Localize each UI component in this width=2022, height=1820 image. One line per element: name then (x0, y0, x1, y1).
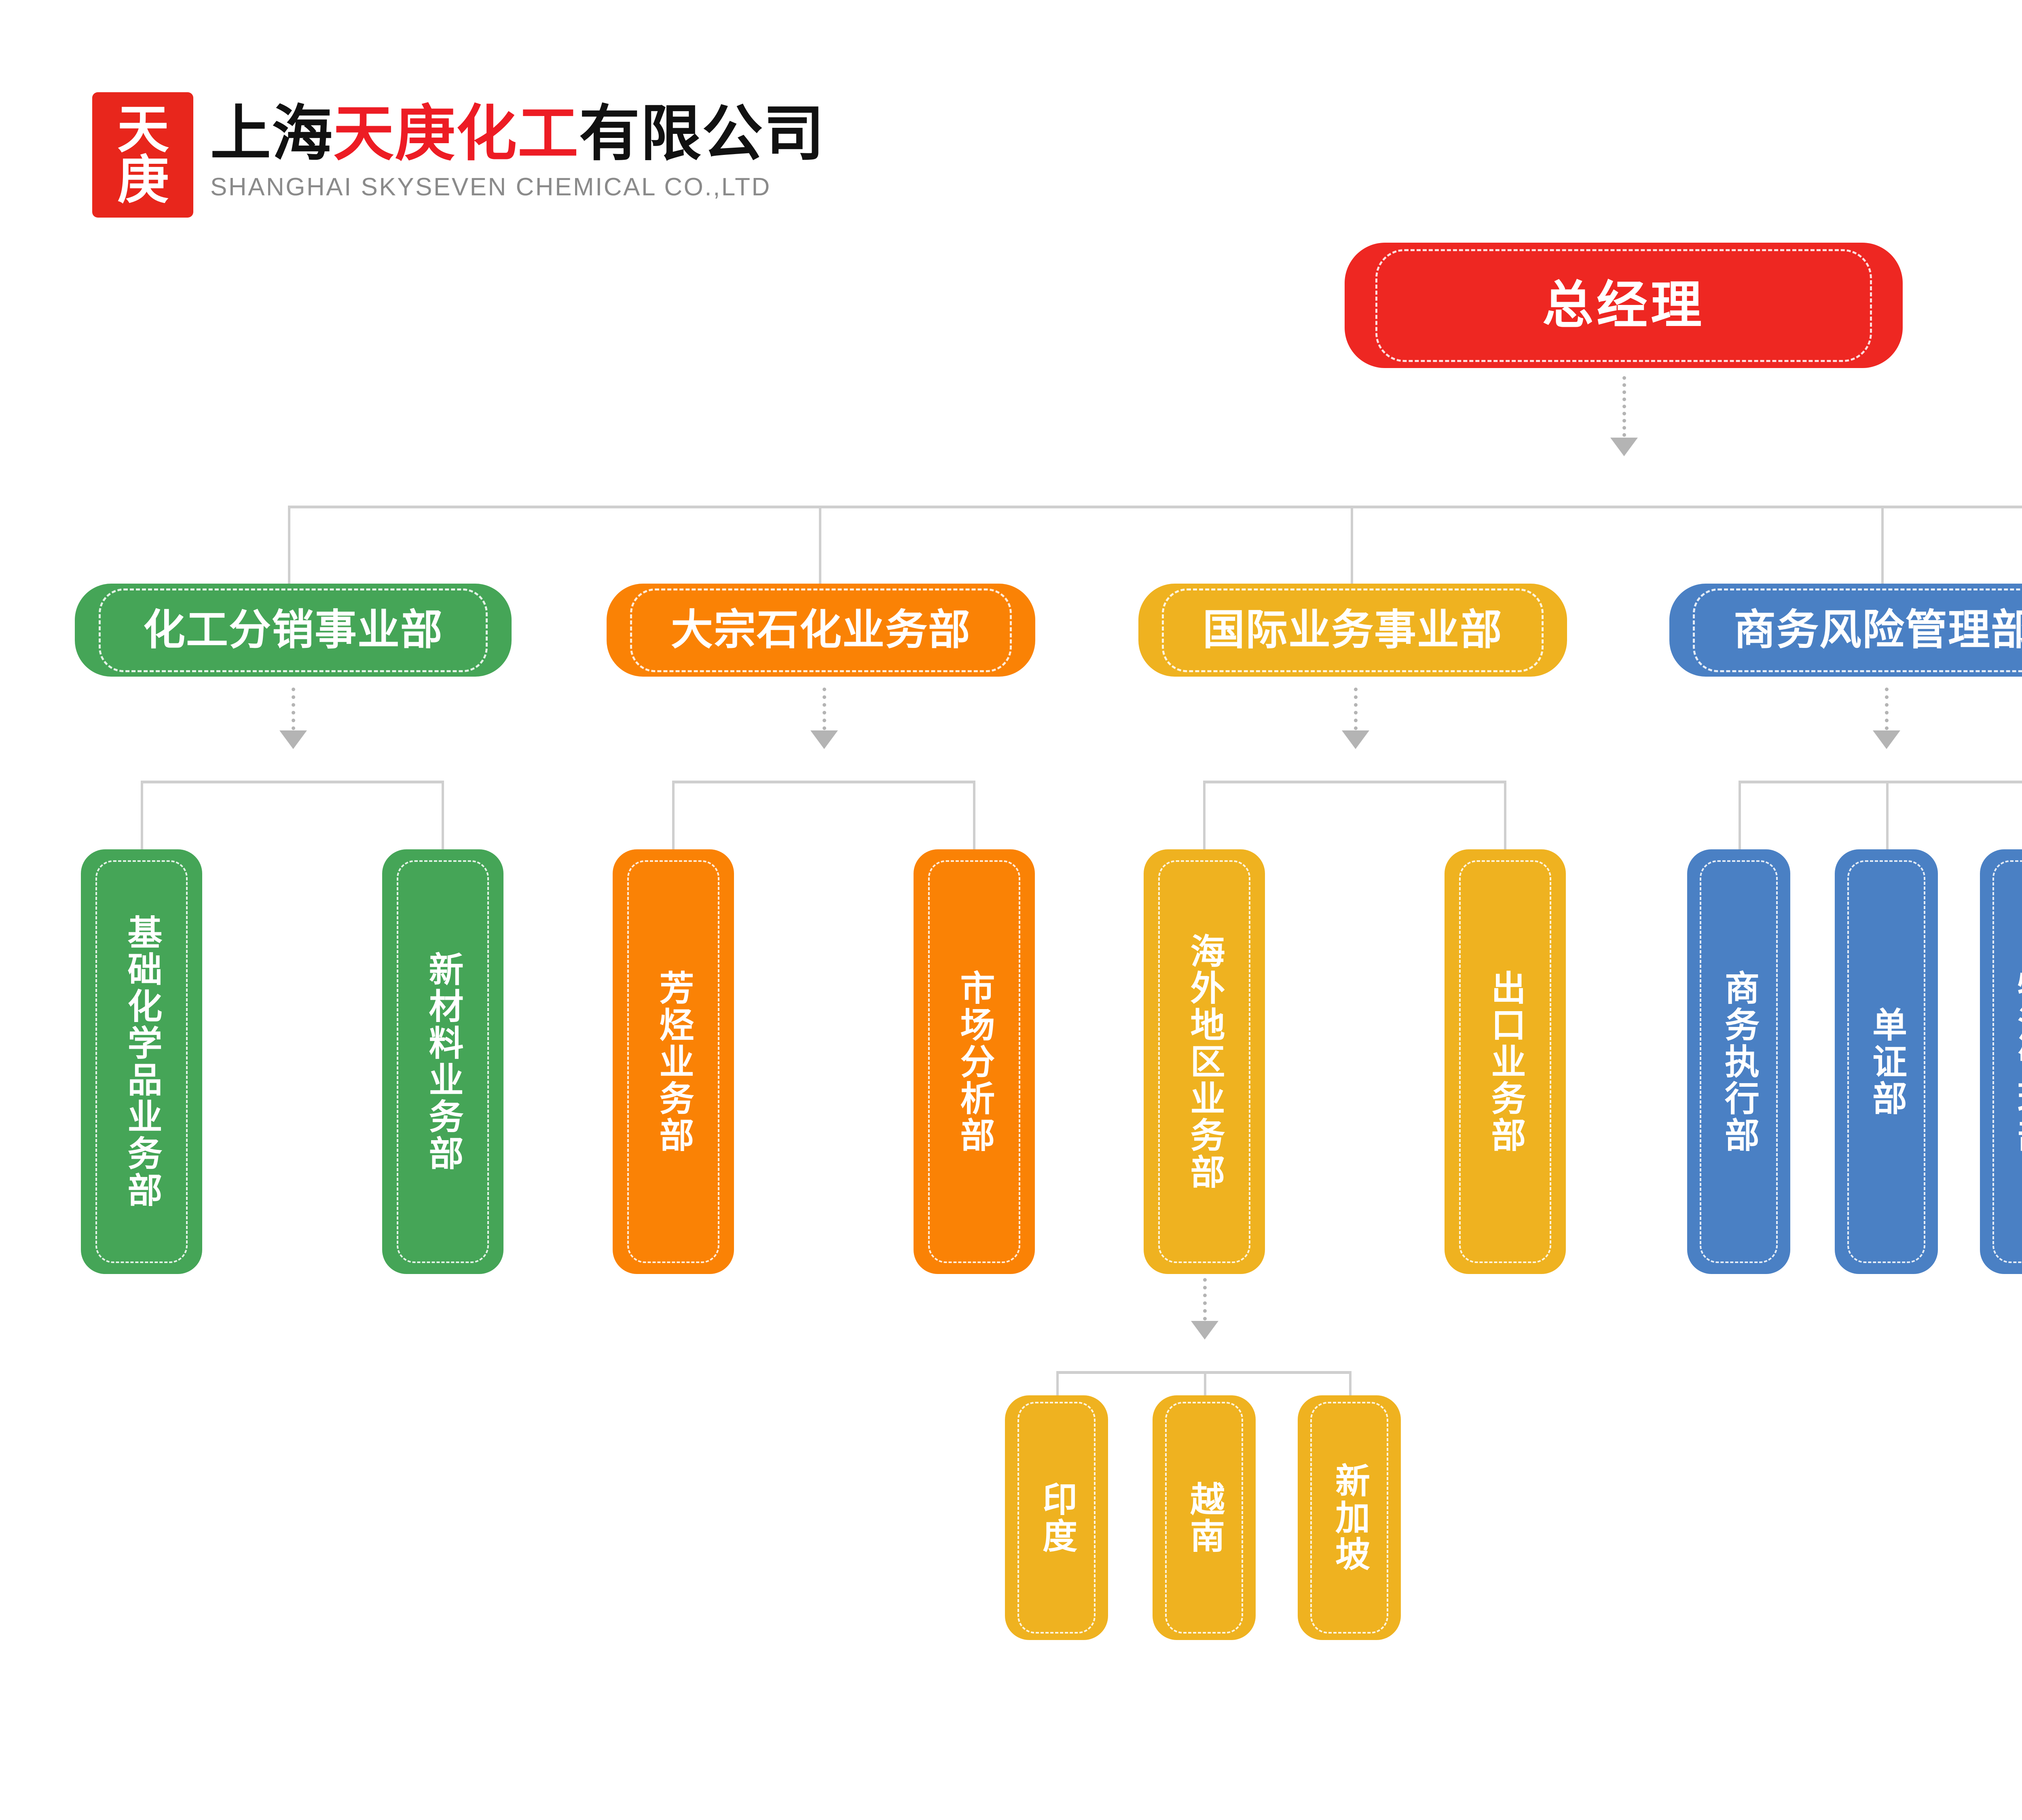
org-node-label: 总经理 (1542, 278, 1705, 332)
company-name-cn: 上海天庚化工有限公司 (210, 103, 825, 165)
connector-drop-dept-3-child-1 (1886, 781, 1889, 851)
company-name-en: SHANGHAI SKYSEVEN CHEMICAL CO.,LTD (210, 173, 825, 201)
org-node-label: 商务执行部 (1722, 970, 1756, 1154)
connector-bus-dept-2 (1203, 781, 1506, 783)
org-node-label: 化工分销事业部 (143, 608, 443, 652)
connector-stem-dept-0 (292, 688, 295, 730)
org-node-basic-chemicals-business-dept[interactable]: 基础化学品业务部 (81, 849, 202, 1274)
org-node-label: 国际业务事业部 (1203, 608, 1503, 652)
connector-arrow-overseas-icon (1191, 1321, 1218, 1340)
connector-stem-dept-3 (1885, 688, 1889, 730)
connector-drop-dept-0 (288, 506, 290, 584)
org-node-documentation-dept[interactable]: 单证部 (1835, 849, 1938, 1274)
org-node-label: 出口业务部 (1488, 970, 1523, 1154)
connector-arrow-dept-2-icon (1342, 730, 1369, 749)
org-node-international-business-division[interactable]: 国际业务事业部 (1138, 584, 1567, 677)
connector-arrow-dept-1-icon (810, 730, 838, 749)
company-seal-logo-icon: 天 庚 (92, 92, 193, 218)
connector-stem-overseas (1203, 1278, 1207, 1321)
org-node-general-manager[interactable]: 总经理 (1345, 243, 1903, 368)
connector-drop-dept-3 (1881, 506, 1884, 584)
org-node-export-business-dept[interactable]: 出口业务部 (1445, 849, 1566, 1274)
org-node-label: 印度 (1039, 1481, 1074, 1555)
connector-root-stem (1622, 376, 1626, 437)
connector-arrow-dept-3-icon (1873, 730, 1900, 749)
connector-bus-dept-1 (672, 781, 975, 783)
company-name-suffix: 有限公司 (579, 99, 825, 167)
org-node-bulk-petrochemical-dept[interactable]: 大宗石化业务部 (607, 584, 1035, 677)
org-node-label: 大宗石化业务部 (671, 608, 971, 652)
seal-char-tian: 天 (117, 104, 168, 155)
company-name-prefix: 上海 (210, 99, 333, 167)
connector-drop-dept-2 (1351, 506, 1353, 584)
org-node-label: 越南 (1187, 1481, 1222, 1555)
connector-drop-dept-1-child-0 (672, 781, 675, 851)
company-logo-block: 天 庚 上海天庚化工有限公司 SHANGHAI SKYSEVEN CHEMICA… (92, 92, 825, 218)
org-node-label: 芳烃业务部 (656, 970, 691, 1154)
connector-root-arrow-icon (1610, 438, 1638, 456)
connector-drop-dept-0-child-0 (141, 781, 143, 851)
org-node-label: 物流管理部 (2014, 970, 2022, 1154)
org-node-aromatics-business-dept[interactable]: 芳烃业务部 (613, 849, 734, 1274)
org-node-business-risk-management-dept[interactable]: 商务风险管理部 (1669, 584, 2022, 677)
org-node-label: 市场分析部 (957, 970, 992, 1154)
org-node-business-execution-dept[interactable]: 商务执行部 (1687, 849, 1790, 1274)
connector-stem-dept-1 (823, 688, 826, 730)
company-name-highlight: 天庚化工 (333, 99, 579, 167)
org-node-logistics-management-dept[interactable]: 物流管理部 (1980, 849, 2022, 1274)
connector-drop-dept-2-child-0 (1203, 781, 1206, 851)
connector-drop-dept-2-child-1 (1504, 781, 1506, 851)
connector-level1-bus (288, 506, 2022, 508)
org-node-new-materials-business-dept[interactable]: 新材料业务部 (382, 849, 503, 1274)
org-node-overseas-regional-business-dept[interactable]: 海外地区业务部 (1144, 849, 1265, 1274)
org-node-country-vietnam[interactable]: 越南 (1153, 1395, 1256, 1640)
org-node-label: 商务风险管理部 (1734, 608, 2022, 652)
connector-arrow-dept-0-icon (279, 730, 307, 749)
company-name-group: 上海天庚化工有限公司 SHANGHAI SKYSEVEN CHEMICAL CO… (210, 92, 825, 201)
org-node-label: 海外地区业务部 (1187, 933, 1222, 1191)
connector-drop-dept-0-child-1 (442, 781, 444, 851)
connector-drop-dept-1 (819, 506, 821, 584)
org-node-country-singapore[interactable]: 新加坡 (1298, 1395, 1401, 1640)
connector-drop-dept-3-child-0 (1739, 781, 1741, 851)
org-node-label: 新材料业务部 (425, 951, 460, 1172)
connector-stem-dept-2 (1354, 688, 1358, 730)
connector-bus-dept-0 (141, 781, 444, 783)
connector-bus-dept-3 (1739, 781, 2022, 783)
connector-drop-dept-1-child-1 (973, 781, 975, 851)
org-node-chemical-distribution-division[interactable]: 化工分销事业部 (75, 584, 512, 677)
seal-char-geng: 庚 (117, 155, 168, 205)
org-node-label: 新加坡 (1332, 1462, 1367, 1573)
org-node-country-india[interactable]: 印度 (1005, 1395, 1108, 1640)
org-node-label: 单证部 (1869, 1007, 1904, 1117)
org-node-market-analysis-dept[interactable]: 市场分析部 (914, 849, 1035, 1274)
org-node-label: 基础化学品业务部 (124, 914, 159, 1209)
